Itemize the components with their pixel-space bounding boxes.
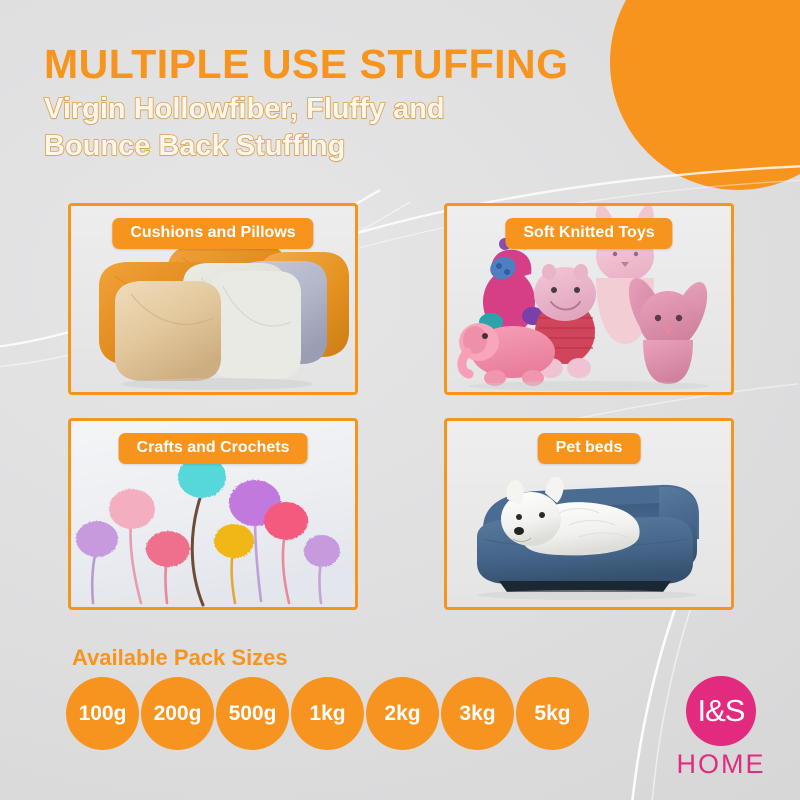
card-soft-knitted-toys[interactable]: Soft Knitted Toys — [444, 203, 734, 395]
card-label-crafts: Crafts and Crochets — [119, 433, 308, 464]
pack-sizes-row: 100g 200g 500g 1kg 2kg 3kg 5kg — [66, 677, 589, 750]
brand-logo-mark: I&S — [686, 676, 756, 746]
card-pet-beds[interactable]: Pet beds — [444, 418, 734, 610]
pack-size-200g[interactable]: 200g — [141, 677, 214, 750]
pack-size-500g[interactable]: 500g — [216, 677, 289, 750]
card-cushions-and-pillows[interactable]: Cushions and Pillows — [68, 203, 358, 395]
pack-size-5kg[interactable]: 5kg — [516, 677, 589, 750]
card-label-cushions: Cushions and Pillows — [112, 218, 313, 249]
card-label-pet-beds: Pet beds — [538, 433, 641, 464]
header-block: MULTIPLE USE STUFFING Virgin Hollowfiber… — [44, 42, 704, 165]
pack-size-3kg[interactable]: 3kg — [441, 677, 514, 750]
pack-size-2kg[interactable]: 2kg — [366, 677, 439, 750]
pack-sizes-heading: Available Pack Sizes — [72, 645, 288, 671]
brand-logo: I&S HOME — [666, 676, 776, 780]
brand-logo-wordmark: HOME — [666, 749, 776, 780]
poster-canvas: MULTIPLE USE STUFFING Virgin Hollowfiber… — [0, 0, 800, 800]
subtitle-line-1: Virgin Hollowfiber, Fluffy and — [44, 91, 704, 128]
page-subtitle: Virgin Hollowfiber, Fluffy and Bounce Ba… — [44, 91, 704, 165]
pack-size-100g[interactable]: 100g — [66, 677, 139, 750]
card-crafts-and-crochets[interactable]: Crafts and Crochets — [68, 418, 358, 610]
card-label-toys: Soft Knitted Toys — [505, 218, 672, 249]
pack-size-1kg[interactable]: 1kg — [291, 677, 364, 750]
subtitle-line-2: Bounce Back Stuffing — [44, 128, 704, 165]
page-title: MULTIPLE USE STUFFING — [44, 42, 704, 86]
